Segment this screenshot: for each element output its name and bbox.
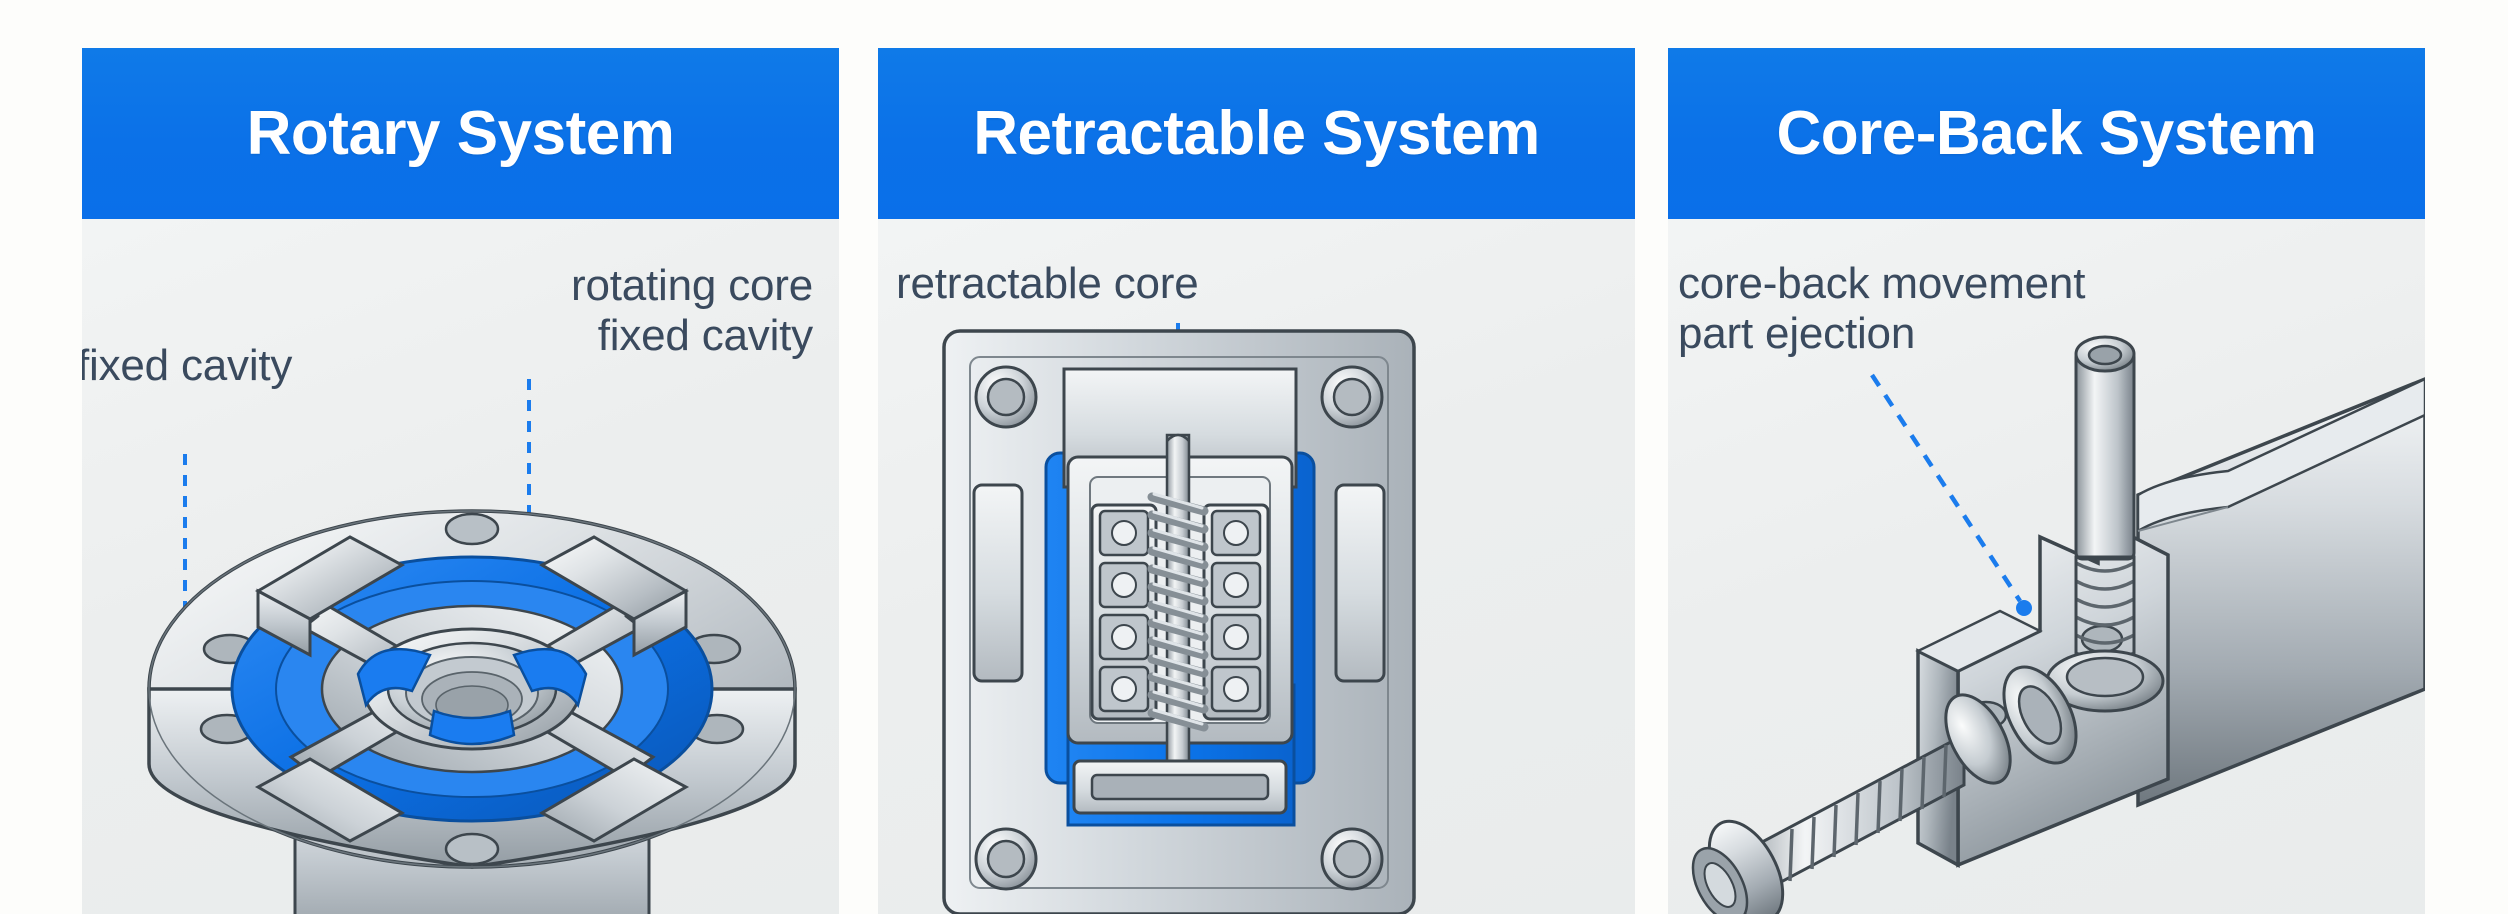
panel-title-retractable: Retractable System <box>973 98 1540 169</box>
actuator-cylinder <box>2138 379 2425 805</box>
panel-title-coreback: Core-Back System <box>1777 98 2317 169</box>
panel-header-rotary: Rotary System <box>82 48 839 219</box>
retractable-system-illustration <box>878 219 1635 914</box>
panel-header-retractable: Retractable System <box>878 48 1635 219</box>
core-back-system-illustration <box>1668 219 2425 914</box>
panel-header-coreback: Core-Back System <box>1668 48 2425 219</box>
panel-body-retractable: retractable core <box>878 219 1635 914</box>
ejector-bar <box>1074 761 1286 813</box>
panel-body-rotary: rotating core fixed cavity fixed cavity <box>82 219 839 914</box>
panel-title-rotary: Rotary System <box>247 98 675 169</box>
panel-core-back-system: Core-Back System core-back movement part… <box>1668 48 2425 914</box>
diagram-board: Rotary System rotating core fixed cavity… <box>0 0 2508 914</box>
bearing-stack-left <box>1092 505 1156 719</box>
leader-line-core-back <box>1872 375 2032 616</box>
bearing-stack-right <box>1204 505 1268 719</box>
panel-retractable-system: Retractable System retractable core <box>878 48 1635 914</box>
panel-body-coreback: core-back movement part ejection <box>1668 219 2425 914</box>
panel-rotary-system: Rotary System rotating core fixed cavity… <box>82 48 839 914</box>
rotary-system-illustration <box>82 219 839 914</box>
